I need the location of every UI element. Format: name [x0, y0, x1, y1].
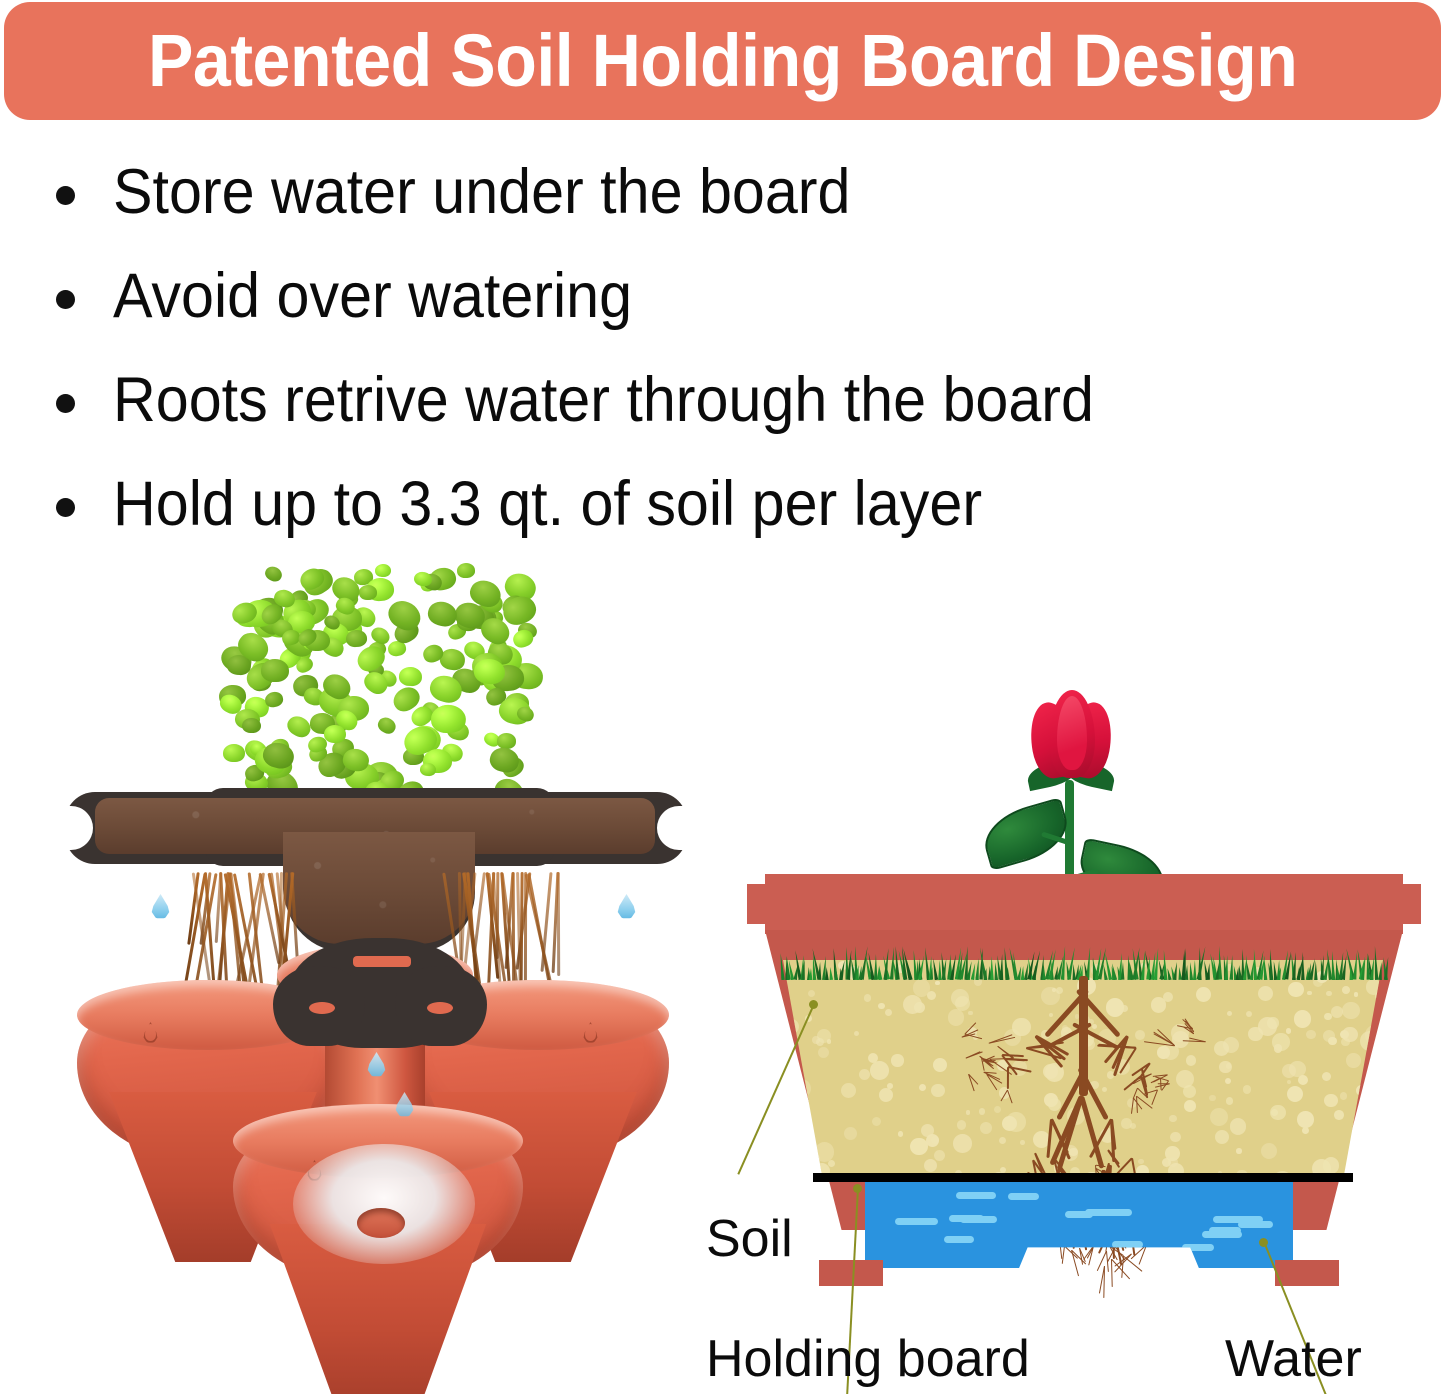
- water-wave: [1085, 1209, 1132, 1216]
- water-wave: [1008, 1193, 1039, 1200]
- leaf: [457, 563, 476, 579]
- leaf: [284, 713, 314, 742]
- list-item: Avoid over watering: [0, 244, 1445, 348]
- bullet-dot-icon: [56, 498, 75, 517]
- leaf: [375, 714, 398, 736]
- soil-speck: [1230, 1118, 1247, 1135]
- soil-speck: [1342, 1002, 1360, 1020]
- rose-leaf-upper-left: [977, 797, 1074, 871]
- pot-foot-right: [1275, 1260, 1339, 1286]
- soil-speck: [885, 1009, 892, 1016]
- water-wave: [1213, 1216, 1263, 1223]
- soil-speck: [816, 1038, 825, 1047]
- soil-speck: [1223, 1037, 1239, 1053]
- soil-speck: [815, 1142, 834, 1161]
- soil-speck: [1209, 1095, 1215, 1101]
- holding-board-hole-left: [309, 1002, 335, 1014]
- drain-spout: [357, 1208, 405, 1238]
- soil-speck: [1287, 1086, 1304, 1103]
- soil-speck: [1227, 1011, 1232, 1016]
- soil-speck: [898, 1131, 903, 1136]
- soil-speck: [1215, 1130, 1229, 1144]
- soil-speck: [1373, 1101, 1383, 1119]
- root-branch: [1151, 1090, 1158, 1105]
- water-wave: [1112, 1241, 1143, 1248]
- soil-speck: [933, 1058, 947, 1072]
- root-branch: [965, 1050, 981, 1058]
- page-title: Patented Soil Holding Board Design: [148, 24, 1297, 98]
- soil-speck: [859, 1069, 870, 1080]
- root-branch: [1007, 1089, 1013, 1103]
- grass-blade: [894, 946, 900, 980]
- soil-speck: [1288, 982, 1303, 997]
- soil-speck: [1307, 991, 1312, 996]
- holding-board-slot: [353, 956, 411, 967]
- soil-speck: [891, 1054, 903, 1066]
- list-item: Roots retrive water through the board: [0, 348, 1445, 452]
- feature-bullet-list: Store water under the board Avoid over w…: [0, 140, 1445, 556]
- soil-speck: [1243, 1085, 1251, 1093]
- leaf: [496, 733, 516, 749]
- soil-speck: [1326, 991, 1332, 997]
- soil-speck: [818, 1047, 829, 1058]
- soil-speck: [872, 1117, 881, 1126]
- leaf: [263, 564, 285, 585]
- soil-speck: [1225, 1078, 1231, 1084]
- bullet-dot-icon: [56, 394, 75, 413]
- soil-speck: [806, 1156, 813, 1163]
- soil-speck: [931, 1084, 945, 1098]
- soil-speck: [1261, 1143, 1277, 1159]
- soil-speck: [1363, 1153, 1373, 1163]
- root-branch: [1000, 1089, 1008, 1101]
- soil-speck: [1334, 1110, 1344, 1120]
- soil-speck: [1371, 1060, 1383, 1072]
- leaf: [419, 762, 436, 777]
- grass-blade: [938, 960, 942, 980]
- soil-speck: [841, 1083, 856, 1098]
- root-branch: [1064, 1246, 1078, 1259]
- pot-foot-left: [819, 1260, 883, 1286]
- soil-speck: [1341, 1038, 1349, 1046]
- soil-speck: [1196, 987, 1211, 1002]
- root-branch: [1106, 1251, 1109, 1272]
- grass-band: [779, 946, 1389, 980]
- leaf: [374, 564, 391, 578]
- soil-speck: [1286, 1028, 1291, 1033]
- water-wave: [949, 1215, 984, 1222]
- leaf: [264, 690, 285, 709]
- callout-label-holding-board: Holding board: [706, 1333, 1030, 1385]
- soil-speck: [948, 1009, 964, 1025]
- soil-speck: [1322, 1072, 1331, 1081]
- leaf: [223, 744, 245, 762]
- infographic-page: Patented Soil Holding Board Design Store…: [0, 0, 1445, 1394]
- soil-speck: [919, 1084, 926, 1091]
- feature-text: Store water under the board: [113, 161, 850, 224]
- grass-blade: [1229, 955, 1234, 980]
- grass-blade: [825, 966, 829, 980]
- grass-blade: [1268, 949, 1274, 980]
- soil-speck: [1346, 1053, 1361, 1068]
- water-wave: [895, 1218, 938, 1225]
- soil-speck: [1267, 1017, 1278, 1028]
- water-droplet-icon: [151, 894, 170, 919]
- list-item: Hold up to 3.3 qt. of soil per layer: [0, 452, 1445, 556]
- bullet-dot-icon: [56, 186, 75, 205]
- water-wave: [956, 1192, 996, 1199]
- soil-speck: [1382, 1028, 1383, 1033]
- grass-blade: [1314, 961, 1318, 980]
- water-wave: [1182, 1244, 1214, 1251]
- leaf: [398, 666, 422, 686]
- soil-speck: [1287, 1080, 1291, 1084]
- pot-rim-band: [765, 874, 1403, 934]
- root-branch: [1061, 1246, 1065, 1264]
- grass-blade: [883, 948, 890, 980]
- soil-speck: [828, 1160, 835, 1167]
- callout-label-water: Water: [1225, 1333, 1362, 1385]
- soil-speck: [864, 994, 871, 1001]
- soil-speck: [927, 991, 936, 1000]
- bullet-dot-icon: [56, 290, 75, 309]
- soil-speck: [1226, 1097, 1234, 1105]
- soil-speck: [1368, 1110, 1383, 1126]
- leaf: [242, 718, 261, 734]
- water-droplet-icon: [617, 894, 636, 919]
- soil-speck: [1298, 1075, 1308, 1085]
- soil-speck: [1258, 986, 1273, 1001]
- soil-speck: [789, 1133, 809, 1153]
- soil-speck: [914, 1002, 925, 1013]
- root-system: [967, 976, 1197, 1196]
- soil-speck: [910, 1138, 928, 1156]
- soil-speck: [924, 1159, 937, 1172]
- water-wave: [944, 1236, 974, 1243]
- soil-speck: [879, 1088, 893, 1102]
- feature-text: Hold up to 3.3 qt. of soil per layer: [113, 473, 982, 536]
- soil-speck: [934, 1150, 945, 1161]
- soil-speck: [1324, 1013, 1331, 1020]
- cross-section-panel: [735, 660, 1435, 1280]
- soil-speck: [935, 981, 939, 985]
- product-photo-panel: [55, 552, 745, 1342]
- soil-speck: [1354, 992, 1358, 996]
- soil-speck: [792, 1079, 811, 1098]
- grass-blade: [1378, 962, 1383, 980]
- grass-blade: [779, 953, 785, 980]
- soil-speck: [1379, 1028, 1383, 1035]
- water-reservoir: [865, 1182, 1293, 1268]
- root-branch: [1111, 1259, 1113, 1287]
- board-line: [813, 1173, 1353, 1182]
- root-branch: [1158, 1083, 1170, 1084]
- feature-text: Roots retrive water through the board: [113, 369, 1094, 432]
- soil-speck: [870, 1061, 889, 1080]
- soil-speck: [1302, 1127, 1309, 1134]
- root-branch: [1096, 1251, 1107, 1272]
- leaf: [324, 725, 346, 743]
- leaf: [260, 659, 288, 682]
- soil-speck: [878, 1003, 885, 1010]
- grass-blade: [1207, 963, 1212, 980]
- root-branch: [997, 1046, 1013, 1060]
- soil-speck: [1340, 1092, 1347, 1099]
- soil-speck: [1297, 1111, 1314, 1128]
- soil-speck: [1324, 1094, 1338, 1108]
- leaf: [430, 705, 465, 734]
- leaf: [346, 629, 368, 647]
- soil-speck: [957, 1120, 967, 1130]
- soil-speck: [1236, 1148, 1242, 1154]
- soil-speck: [931, 1136, 939, 1144]
- soil-speck: [1294, 1010, 1311, 1027]
- list-item: Store water under the board: [0, 140, 1445, 244]
- feature-text: Avoid over watering: [113, 265, 632, 328]
- soil-speck: [1246, 1011, 1252, 1017]
- soil-speck: [808, 990, 815, 997]
- callout-label-soil: Soil: [706, 1213, 793, 1265]
- soil-speck: [1270, 1105, 1285, 1120]
- soil-speck: [1272, 1033, 1290, 1051]
- root-strand: [557, 872, 560, 976]
- soil-speck: [1342, 986, 1350, 994]
- water-wave: [1209, 1227, 1241, 1234]
- soil-speck: [854, 1031, 859, 1036]
- water-splash: [293, 1144, 475, 1264]
- soil-speck: [844, 1127, 857, 1140]
- header-banner: Patented Soil Holding Board Design: [4, 2, 1441, 120]
- grass-blade: [1374, 946, 1380, 980]
- leaf: [383, 595, 426, 636]
- grass-blade: [829, 967, 834, 980]
- soil-speck: [827, 1039, 831, 1043]
- grass-blade: [1085, 947, 1092, 980]
- holding-board-hole-right: [427, 1002, 453, 1014]
- leader-line-soil: [737, 1004, 814, 1175]
- leaf: [359, 585, 377, 600]
- soil-speck: [1210, 1108, 1228, 1126]
- soil-speck: [1306, 1030, 1316, 1040]
